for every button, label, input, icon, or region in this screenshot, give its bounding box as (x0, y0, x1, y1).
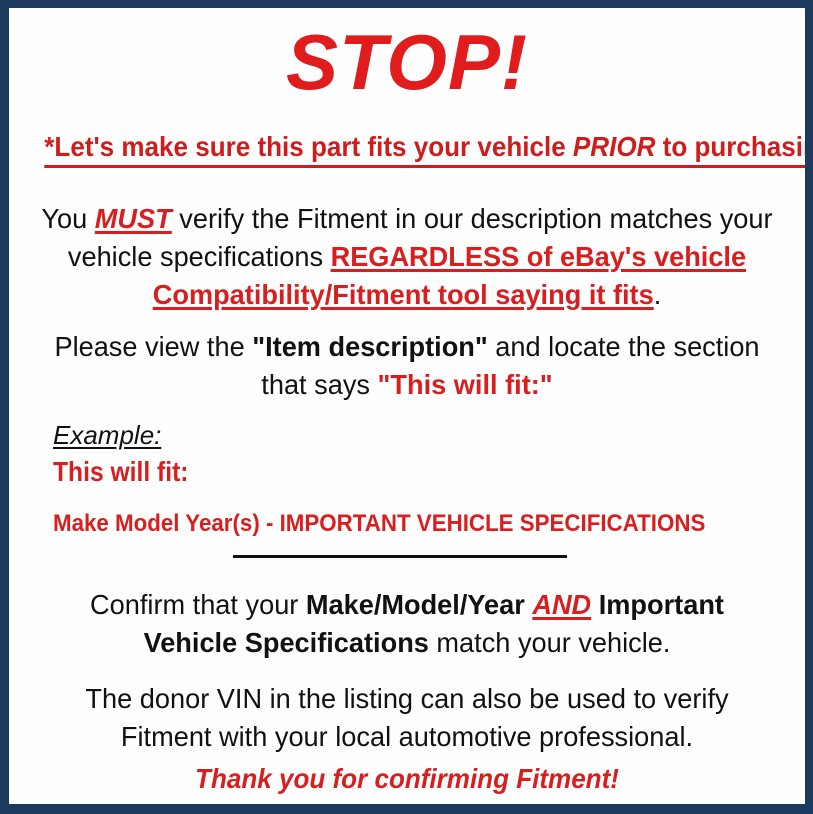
p3-emphasis-make-model-year: Make/Model/Year (306, 589, 525, 620)
subhead-banner: *Let's make sure this part fits your veh… (44, 130, 769, 168)
subhead-part-1: *Let's make sure this part fits your veh… (44, 131, 573, 162)
paragraph-verify-fitment: You MUST verify the Fitment in our descr… (40, 200, 773, 314)
example-label: Example: (53, 420, 161, 450)
p2-emphasis-item-description: "Item description" (252, 331, 488, 362)
p3-seg-4: match your vehicle. (429, 627, 671, 658)
p1-seg-1: You (41, 203, 94, 234)
paragraph-donor-vin: The donor VIN in the listing can also be… (40, 680, 773, 756)
subhead-underlined-text: *Let's make sure this part fits your veh… (44, 130, 805, 168)
paragraph-item-description: Please view the "Item description" and l… (40, 328, 773, 404)
example-label-row: Example: (53, 420, 785, 450)
notice-page: STOP! *Let's make sure this part fits yo… (9, 8, 805, 804)
subhead-prior-emphasis: PRIOR (573, 131, 655, 162)
notice-outer-frame: STOP! *Let's make sure this part fits yo… (0, 0, 813, 814)
p3-emphasis-and: AND (532, 589, 591, 620)
paragraph-confirm-match: Confirm that your Make/Model/Year AND Im… (40, 586, 773, 662)
p1-seg-3: . (654, 279, 662, 310)
closing-thank-you: Thank you for confirming Fitment! (55, 762, 758, 796)
stop-headline: STOP! (9, 14, 805, 110)
p1-emphasis-must: MUST (95, 203, 172, 234)
example-block: Example: This will fit: Make Model Year(… (53, 420, 785, 538)
p2-emphasis-this-will-fit: "This will fit:" (378, 369, 553, 400)
example-spec-line: Make Model Year(s) - IMPORTANT VEHICLE S… (53, 510, 734, 538)
p3-seg-3 (591, 589, 599, 620)
subhead-part-2: to purchasing* (655, 131, 805, 162)
example-fit-heading: This will fit: (53, 456, 697, 488)
p3-seg-1: Confirm that your (90, 589, 306, 620)
p2-seg-1: Please view the (54, 331, 252, 362)
section-divider (233, 555, 567, 558)
